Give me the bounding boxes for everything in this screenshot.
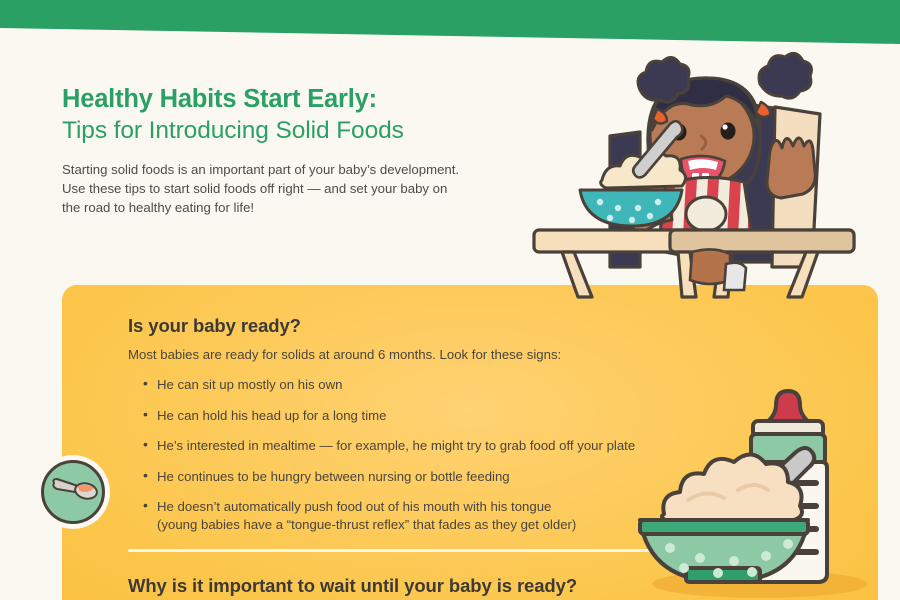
list-item-text: He doesn’t automatically push food out o… — [157, 499, 551, 514]
intro-paragraph: Starting solid foods is an important par… — [62, 160, 514, 218]
spoon-badge — [36, 455, 110, 529]
card-bottom-heading: Why is it important to wait until your b… — [128, 575, 577, 597]
intro-line-1: Starting solid foods is an important par… — [62, 160, 514, 179]
list-item-text: He can hold his head up for a long time — [157, 408, 386, 423]
intro-line-2: Use these tips to start solid foods off … — [62, 179, 514, 198]
header-block: Healthy Habits Start Early: Tips for Int… — [62, 84, 532, 218]
list-item-text: He’s interested in mealtime — for exampl… — [157, 438, 635, 453]
infographic-page: Healthy Habits Start Early: Tips for Int… — [0, 0, 900, 600]
intro-line-3: the road to healthy eating for life! — [62, 198, 514, 217]
spoon-icon — [41, 460, 105, 524]
list-item-text: He can sit up mostly on his own — [157, 377, 342, 392]
card-heading: Is your baby ready? — [128, 315, 828, 337]
bottle-and-bowl-illustration — [648, 368, 880, 600]
baby-highchair-illustration — [520, 62, 880, 297]
page-title-line2: Tips for Introducing Solid Foods — [62, 115, 532, 147]
top-banner — [0, 0, 900, 46]
list-item-text: He continues to be hungry between nursin… — [157, 469, 510, 484]
section-divider — [128, 549, 733, 552]
page-title-line1: Healthy Habits Start Early: — [62, 84, 532, 114]
card-intro-text: Most babies are ready for solids at arou… — [128, 346, 828, 364]
